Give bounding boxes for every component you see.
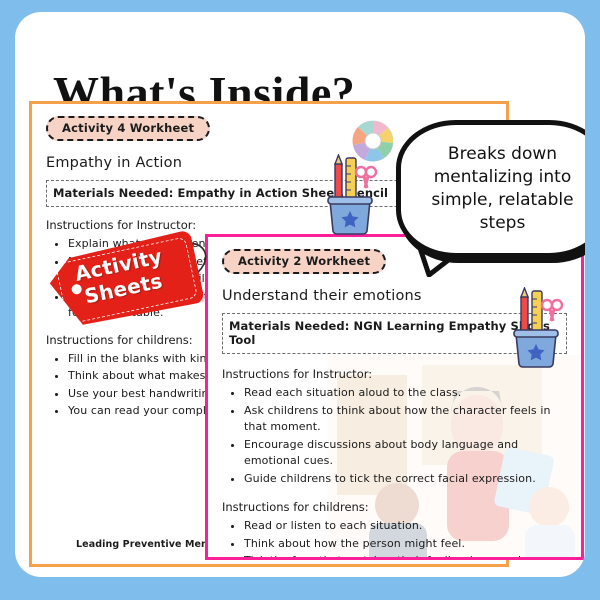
worksheet-card-activity-2[interactable]: Activity 2 Workheet Understand their emo… <box>205 234 584 560</box>
speech-bubble-callout: Breaks down mentalizing into simple, rel… <box>396 120 585 258</box>
worksheet-2-content: Activity 2 Workheet Understand their emo… <box>208 237 581 560</box>
worksheet-2-instructor-list: Read each situation aloud to the class. … <box>222 385 567 487</box>
activity-2-badge: Activity 2 Workheet <box>222 249 386 274</box>
activity-4-badge: Activity 4 Workheet <box>46 116 210 141</box>
list-item: Tick the face that matches their feeling… <box>244 553 567 560</box>
infographic-wheel-icon <box>350 119 396 167</box>
list-item: Encourage discussions about body languag… <box>244 437 567 470</box>
list-item: Read each situation aloud to the class. <box>244 385 567 402</box>
pencil-cup-icon <box>318 154 380 242</box>
list-item: Think about how the person might feel. <box>244 536 567 553</box>
speech-bubble-text: Breaks down mentalizing into simple, rel… <box>401 143 585 235</box>
pencil-cup-icon <box>504 287 566 375</box>
worksheet-2-children-list: Read or listen to each situation. Think … <box>222 518 567 560</box>
list-item: Guide childrens to tick the correct faci… <box>244 471 567 488</box>
list-item: Read or listen to each situation. <box>244 518 567 535</box>
worksheet-2-children-heading: Instructions for childrens: <box>222 500 567 514</box>
slide-canvas: What's Inside? Activity 4 Workheet Empat… <box>0 0 600 600</box>
list-item: Ask childrens to think about how the cha… <box>244 403 567 436</box>
white-page: What's Inside? Activity 4 Workheet Empat… <box>15 12 585 577</box>
